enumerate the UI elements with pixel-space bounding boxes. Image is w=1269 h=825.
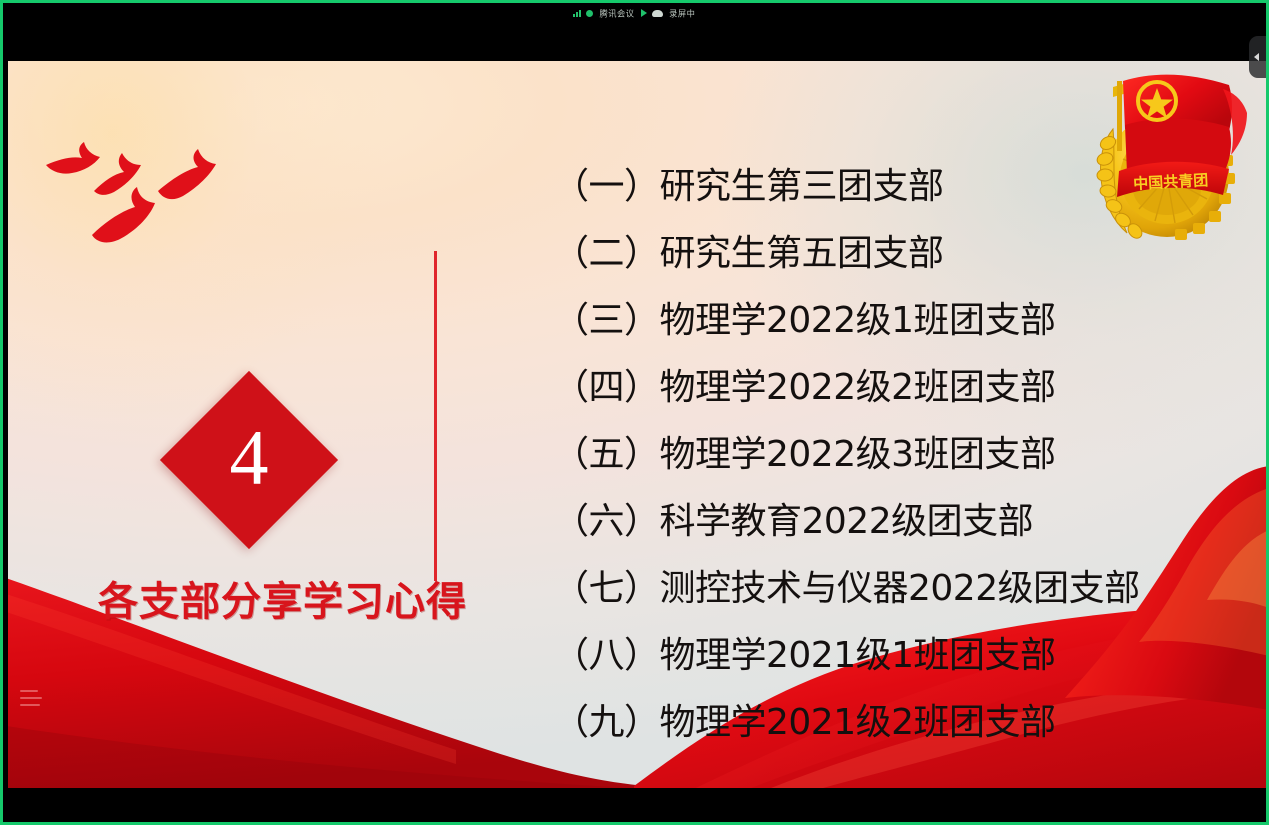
overlay-menu-icon[interactable] <box>20 690 42 706</box>
collapse-panel-button[interactable] <box>1249 36 1266 78</box>
list-item: （六）科学教育2022级团支部 <box>553 488 1193 555</box>
chevron-left-icon <box>1254 53 1259 61</box>
list-item: （八）物理学2021级1班团支部 <box>553 622 1193 689</box>
list-item: （五）物理学2022级3班团支部 <box>553 421 1193 488</box>
cloud-icon <box>652 10 663 17</box>
vertical-divider <box>434 251 437 581</box>
status-app-label: 腾讯会议 <box>599 7 634 19</box>
list-item: （三）物理学2022级1班团支部 <box>553 287 1193 354</box>
red-doves-decoration <box>38 139 238 259</box>
signal-bars-icon <box>573 9 581 17</box>
status-recording-label: 录屏中 <box>669 7 695 19</box>
record-dot-icon <box>586 10 593 17</box>
list-item: （七）测控技术与仪器2022级团支部 <box>553 555 1193 622</box>
section-title: 各支部分享学习心得 <box>98 569 438 627</box>
presentation-slide: 4 各支部分享学习心得 （一）研究生第三团支部 （二）研究生第五团支部 （三）物… <box>8 61 1267 788</box>
phone-status-bar: 腾讯会议 录屏中 <box>3 3 1266 23</box>
screen-recording-frame: 腾讯会议 录屏中 <box>0 0 1269 825</box>
section-number: 4 <box>160 371 338 549</box>
play-triangle-icon <box>641 9 647 17</box>
list-item: （九）物理学2021级2班团支部 <box>553 689 1193 756</box>
communist-youth-league-emblem: 中国共青团 <box>1083 63 1253 253</box>
list-item: （四）物理学2022级2班团支部 <box>553 354 1193 421</box>
section-number-diamond: 4 <box>160 371 338 549</box>
